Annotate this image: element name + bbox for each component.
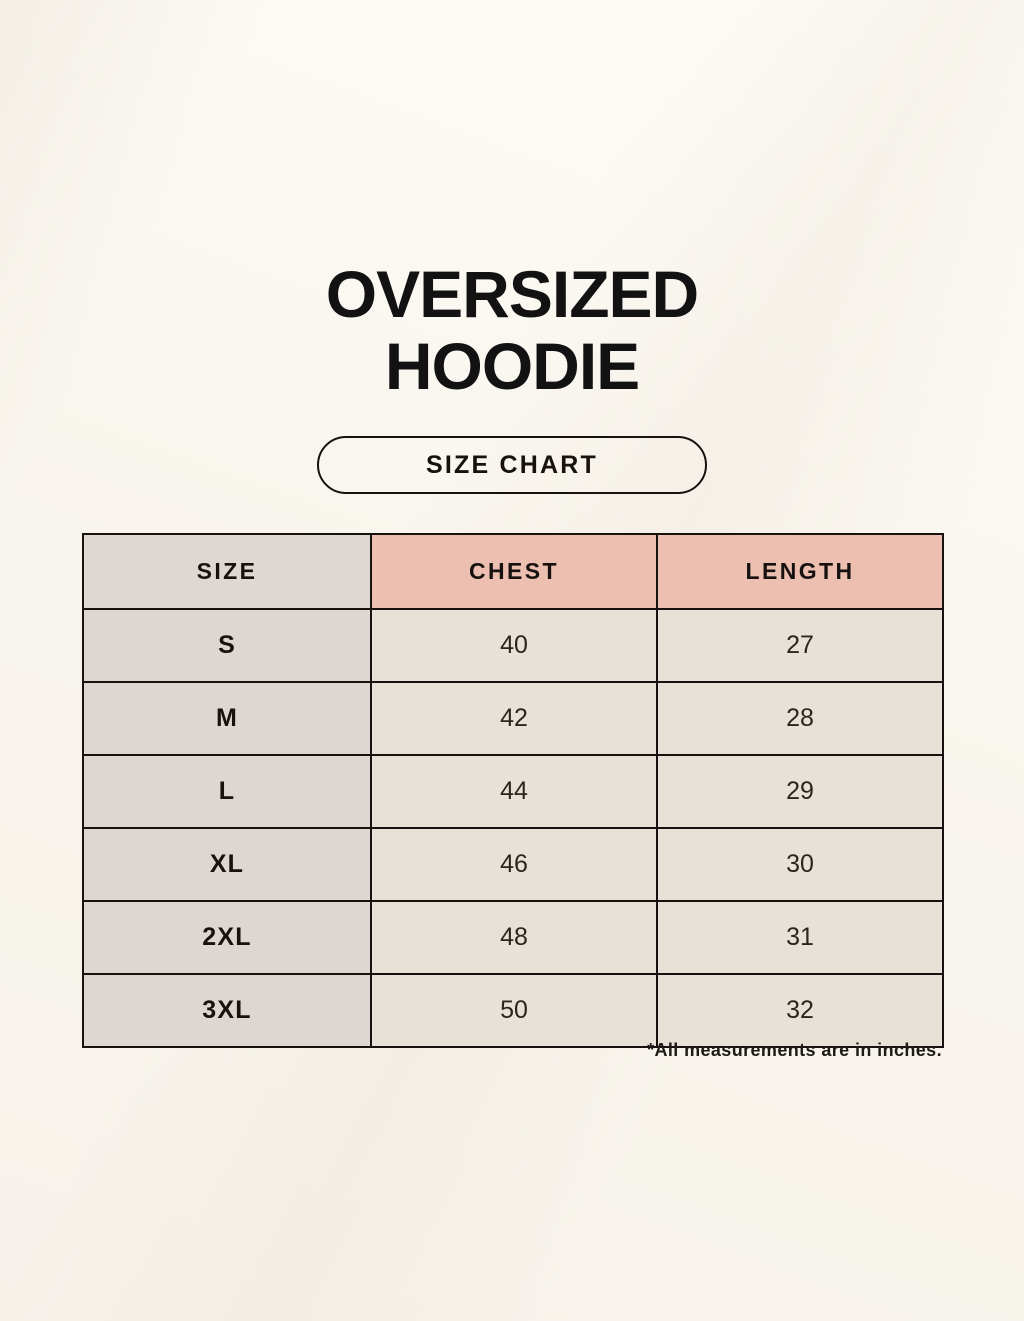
cell-length: 32 xyxy=(657,974,943,1047)
cell-chest: 48 xyxy=(371,901,657,974)
table-header: SIZE CHEST LENGTH xyxy=(83,534,943,609)
cell-length: 28 xyxy=(657,682,943,755)
table-row: 3XL 50 32 xyxy=(83,974,943,1047)
cell-size: 2XL xyxy=(83,901,371,974)
table-row: 2XL 48 31 xyxy=(83,901,943,974)
column-header-size: SIZE xyxy=(83,534,371,609)
cell-chest: 40 xyxy=(371,609,657,682)
cell-chest: 50 xyxy=(371,974,657,1047)
page-title: OVERSIZED HOODIE xyxy=(0,258,1024,402)
size-chart-poster: OVERSIZED HOODIE SIZE CHART SIZE CHEST L… xyxy=(0,0,1024,1321)
cell-length: 29 xyxy=(657,755,943,828)
table-row: S 40 27 xyxy=(83,609,943,682)
cell-length: 30 xyxy=(657,828,943,901)
column-header-chest: CHEST xyxy=(371,534,657,609)
cell-size: S xyxy=(83,609,371,682)
measurements-footnote: *All measurements are in inches. xyxy=(82,1040,942,1061)
cell-length: 31 xyxy=(657,901,943,974)
cell-chest: 42 xyxy=(371,682,657,755)
cell-size: M xyxy=(83,682,371,755)
cell-size: 3XL xyxy=(83,974,371,1047)
size-chart-pill: SIZE CHART xyxy=(317,436,707,494)
table-row: M 42 28 xyxy=(83,682,943,755)
cell-size: XL xyxy=(83,828,371,901)
cell-length: 27 xyxy=(657,609,943,682)
cell-size: L xyxy=(83,755,371,828)
table-row: L 44 29 xyxy=(83,755,943,828)
size-chart-table: SIZE CHEST LENGTH S 40 27 M 42 28 L 44 2… xyxy=(82,533,944,1048)
table-row: XL 46 30 xyxy=(83,828,943,901)
cell-chest: 44 xyxy=(371,755,657,828)
table-body: S 40 27 M 42 28 L 44 29 XL 46 30 2XL 48 xyxy=(83,609,943,1047)
cell-chest: 46 xyxy=(371,828,657,901)
column-header-length: LENGTH xyxy=(657,534,943,609)
size-chart-pill-label: SIZE CHART xyxy=(426,451,598,480)
table-header-row: SIZE CHEST LENGTH xyxy=(83,534,943,609)
